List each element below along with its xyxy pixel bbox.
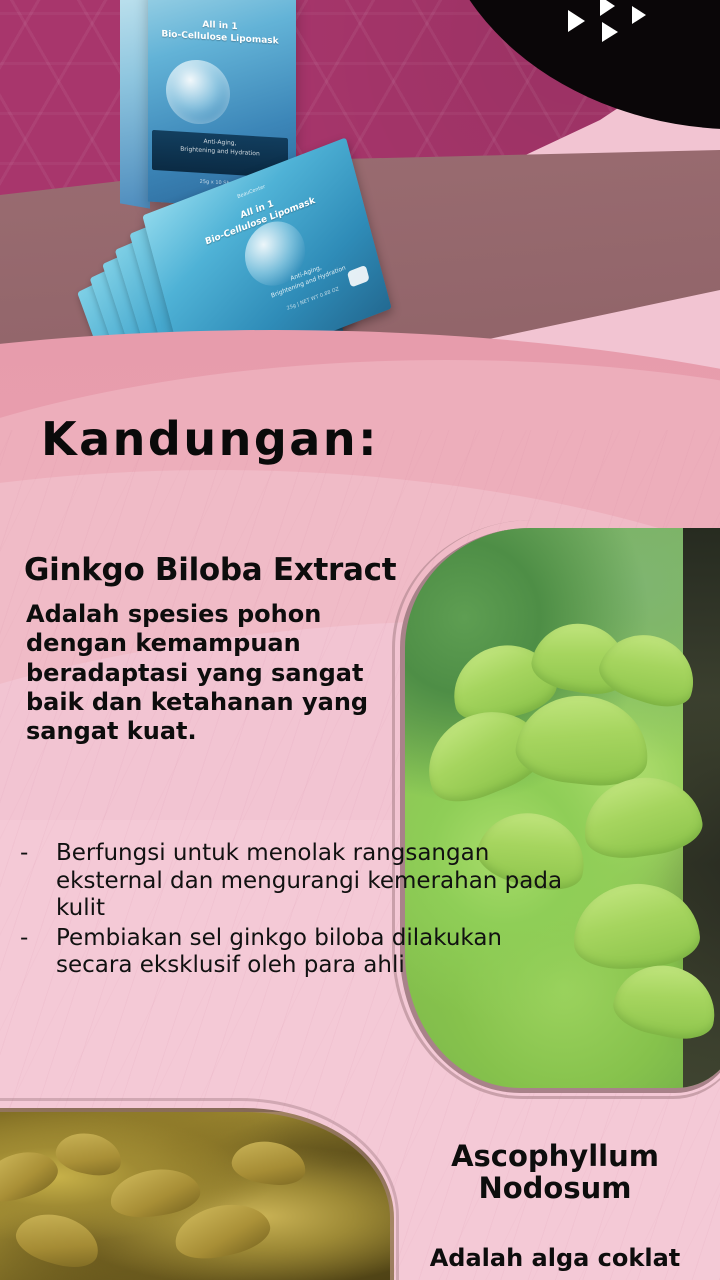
list-item: - Berfungsi untuk menolak rangsangan eks… [14,840,584,923]
product-box-subtitle-line1: Anti-Aging, [203,138,236,147]
white-triangle-icon [568,10,585,32]
ginkgo-leaves-photo [400,528,720,1093]
bullet-dash-icon: - [20,840,28,868]
ascophyllum-section-heading: Ascophyllum Nodosum [400,1140,710,1205]
ascophyllum-heading-line2: Nodosum [478,1171,631,1205]
white-triangle-icon [600,0,615,16]
ginkgo-benefit-list: - Berfungsi untuk menolak rangsangan eks… [14,840,584,982]
seaweed-frond [107,1164,203,1222]
ginkgo-section-heading: Ginkgo Biloba Extract [24,552,396,588]
list-item: - Pembiakan sel ginkgo biloba dilakukan … [14,925,584,980]
product-box-title-line1: All in 1 [202,20,237,32]
seaweed-frond [0,1143,63,1209]
ascophyllum-section-body: Adalah alga coklat [400,1244,710,1272]
white-triangle-icon [602,22,618,42]
ascophyllum-heading-line1: Ascophyllum [451,1139,659,1173]
seaweed-photo [0,1108,394,1280]
white-triangle-icon [632,6,646,24]
page-title: Kandungan: [41,412,379,466]
list-item-label: Pembiakan sel ginkgo biloba dilakukan se… [56,925,502,979]
bullet-dash-icon: - [20,925,28,953]
seaweed-frond [11,1205,105,1274]
ginkgo-section-body: Adalah spesies pohon dengan kemampuan be… [26,600,396,746]
seaweed-frond [53,1128,126,1181]
seaweed-frond [229,1137,308,1189]
poster-canvas: BeauCenter All in 1 Bio-Cellulose Lipoma… [0,0,720,1280]
list-item-label: Berfungsi untuk menolak rangsangan ekste… [56,840,562,921]
